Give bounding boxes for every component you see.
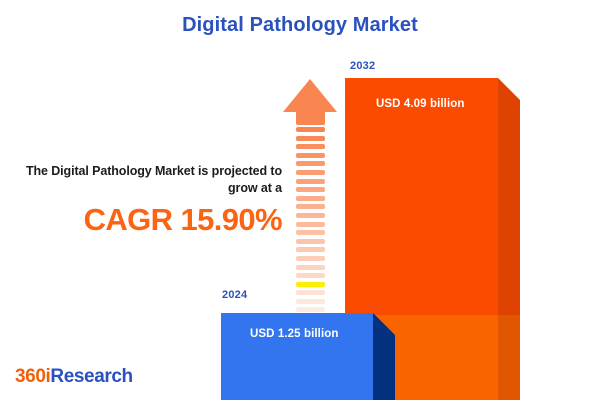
arrow-band — [296, 256, 325, 261]
arrow-band — [296, 213, 325, 218]
arrow-band — [296, 161, 325, 166]
bar-value-2024: USD 1.25 billion — [250, 328, 339, 340]
arrow-band — [296, 179, 325, 184]
infographic-canvas: Digital Pathology Market The Digital Pat… — [0, 0, 600, 400]
bar-value-2032: USD 4.09 billion — [376, 98, 465, 110]
arrow-band — [296, 170, 325, 175]
upward-growth-arrow-icon — [283, 79, 338, 297]
arrow-band — [296, 144, 325, 149]
arrow-band — [296, 196, 325, 201]
arrow-band — [296, 282, 325, 287]
arrow-band — [296, 265, 325, 270]
arrow-band — [296, 222, 325, 227]
arrow-neck — [296, 112, 325, 125]
cagr-value: CAGR 15.90% — [24, 203, 282, 237]
cagr-callout: The Digital Pathology Market is projecte… — [24, 163, 282, 237]
arrow-band — [296, 290, 325, 295]
arrow-band — [296, 239, 325, 244]
arrow-band — [296, 299, 325, 304]
arrow-head-icon — [283, 79, 337, 112]
arrow-band — [296, 127, 325, 132]
bar-2024 — [221, 313, 373, 400]
arrow-band — [296, 187, 325, 192]
arrow-band — [296, 230, 325, 235]
arrow-band — [296, 273, 325, 278]
bar-2032-side-lower-section — [498, 315, 520, 400]
arrow-band — [296, 204, 325, 209]
bar-label-2032: 2032 — [350, 60, 375, 72]
arrow-band — [296, 247, 325, 252]
arrow-band — [296, 136, 325, 141]
cagr-description: The Digital Pathology Market is projecte… — [24, 163, 282, 197]
logo-360: 360 — [15, 366, 46, 387]
arrow-band — [296, 153, 325, 158]
logo-research: Research — [50, 366, 132, 387]
bar-label-2024: 2024 — [222, 289, 247, 301]
arrow-band — [296, 307, 325, 312]
page-title: Digital Pathology Market — [0, 14, 600, 37]
brand-logo: 360iResearch — [15, 366, 133, 388]
